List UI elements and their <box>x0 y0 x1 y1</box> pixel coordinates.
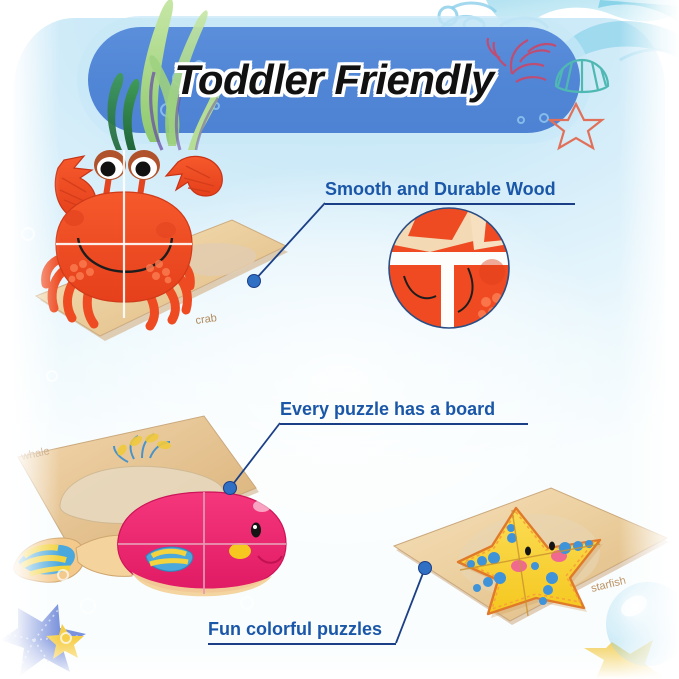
page-title: Toddler Friendly <box>88 44 580 116</box>
callout-label: Fun colorful puzzles <box>208 618 396 640</box>
callout-underline <box>325 203 575 205</box>
callout-label: Every puzzle has a board <box>280 398 528 420</box>
callout-smooth-durable-wood: Smooth and Durable Wood <box>325 178 575 205</box>
callout-underline <box>208 643 396 645</box>
infographic-canvas: Toddler Friendly <box>0 0 679 679</box>
callout-underline <box>280 423 528 425</box>
callout-label: Smooth and Durable Wood <box>325 178 575 200</box>
callout-fun-colorful-puzzles: Fun colorful puzzles <box>208 618 396 645</box>
callout-every-puzzle-has-a-board: Every puzzle has a board <box>280 398 528 425</box>
